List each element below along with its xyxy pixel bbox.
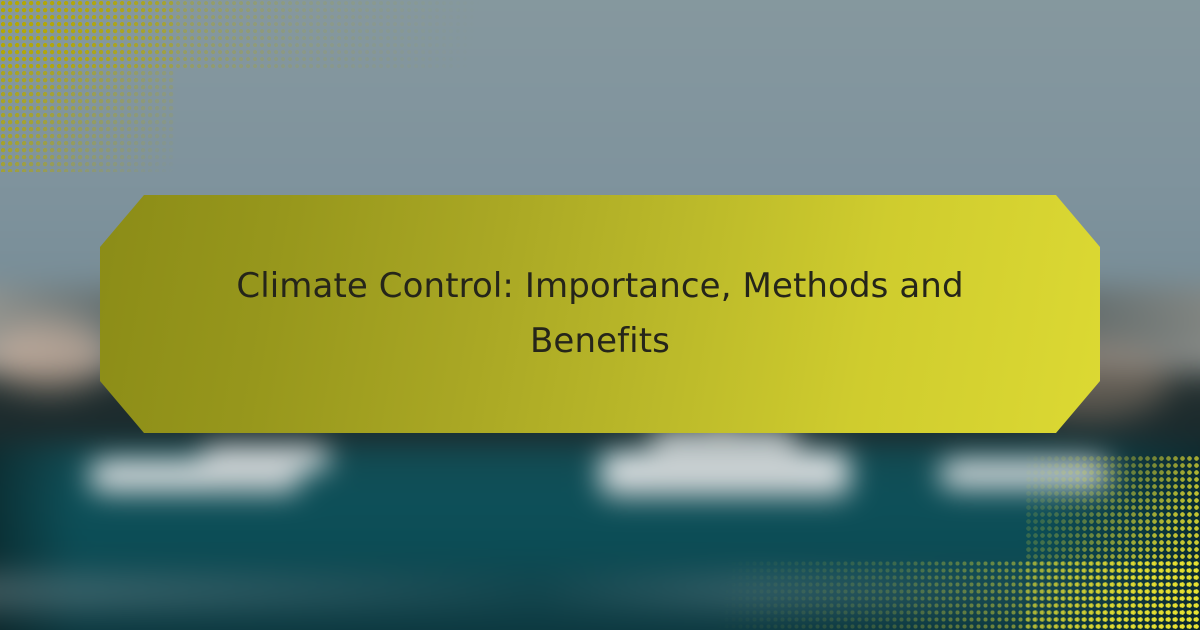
title-banner: Climate Control: Importance, Methods and… [100, 195, 1100, 433]
share-card: Climate Control: Importance, Methods and… [0, 0, 1200, 630]
halftone-dots-top-strip [0, 0, 540, 68]
page-title: Climate Control: Importance, Methods and… [230, 259, 970, 369]
boat [200, 446, 330, 472]
halftone-dots-bottom-strip [660, 560, 1200, 630]
